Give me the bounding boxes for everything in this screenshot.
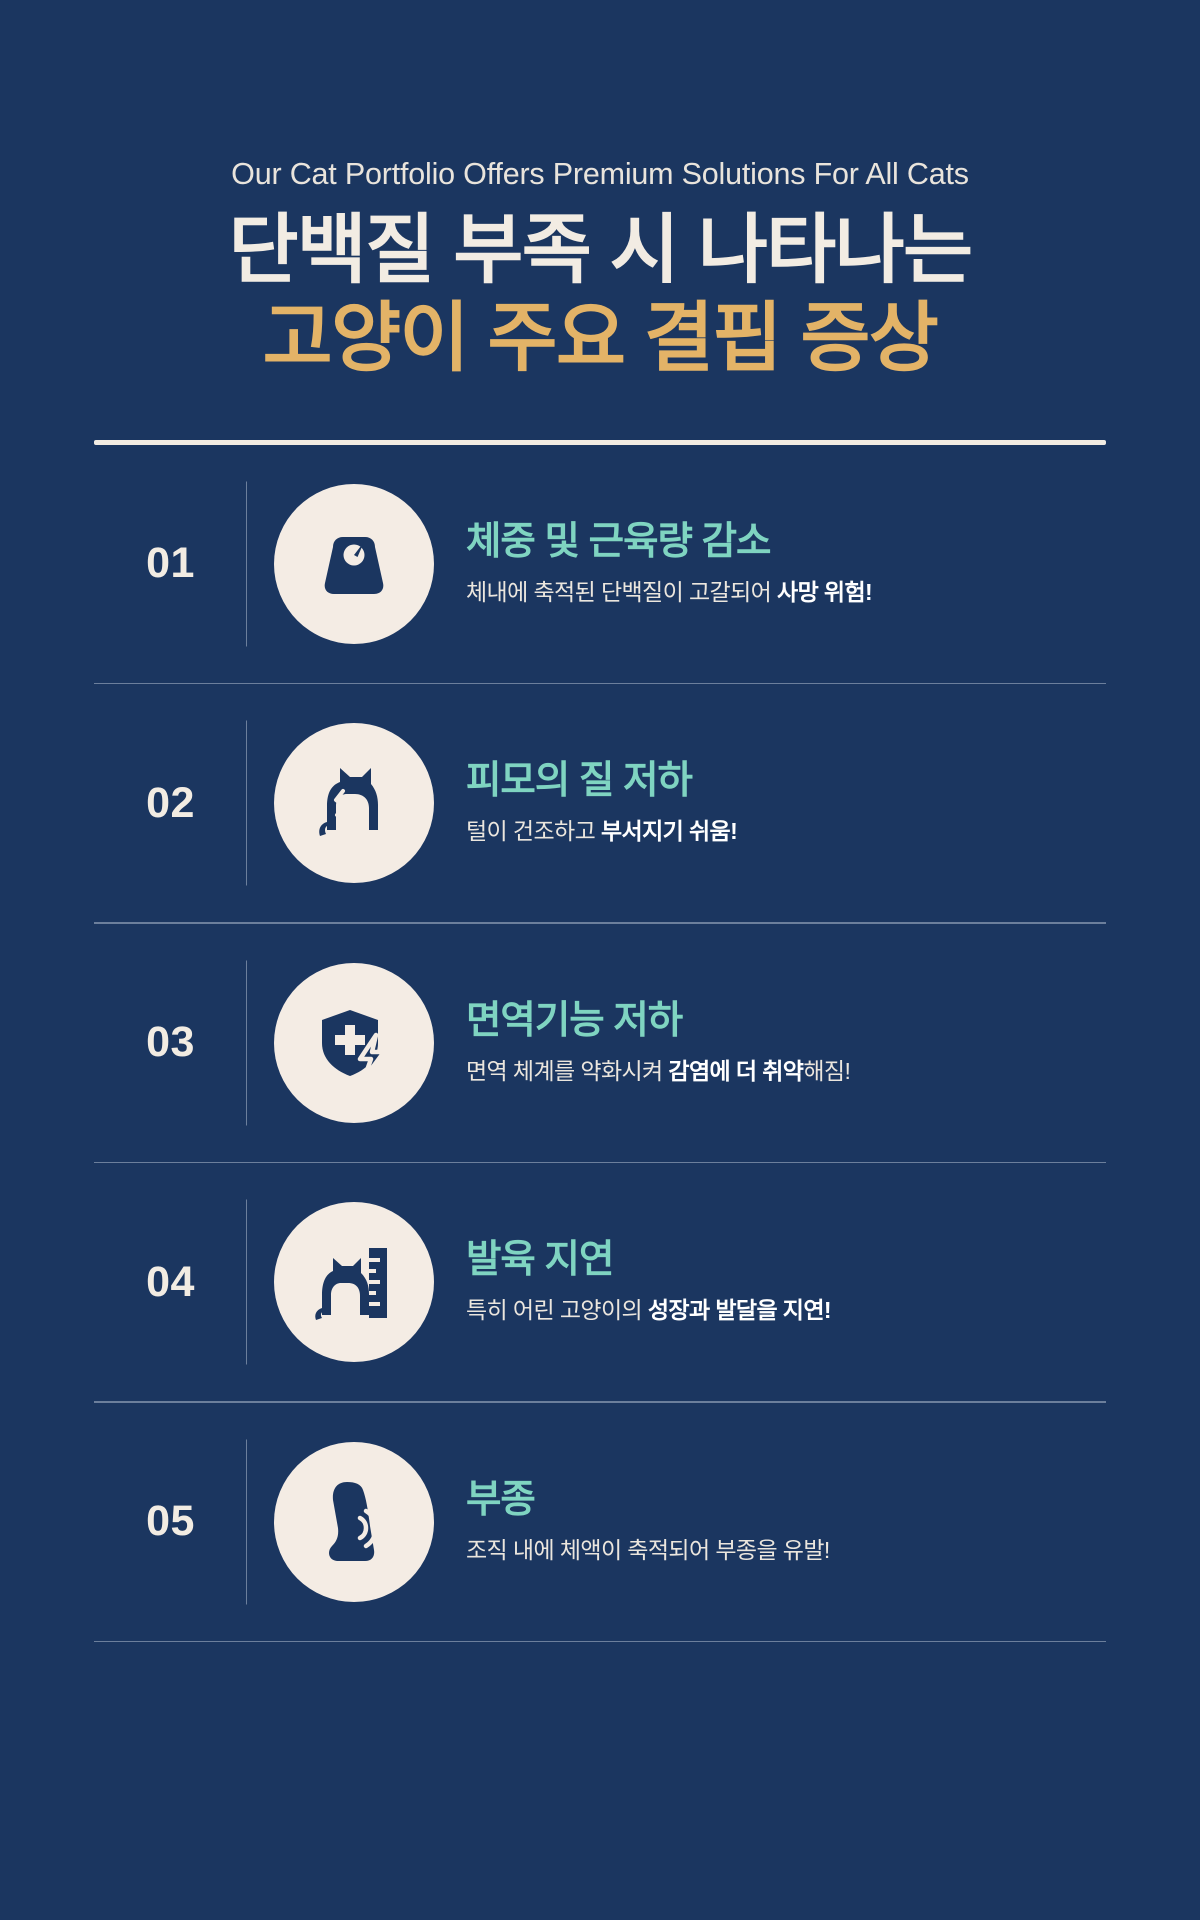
desc-plain: 체내에 축적된 단백질이 고갈되어: [466, 579, 777, 605]
vertical-divider: [246, 1200, 248, 1365]
desc-bold: 감염에 더 취약: [668, 1058, 803, 1084]
symptom-number-cell-3: 03: [94, 1018, 247, 1067]
weight-scale-icon: [311, 521, 397, 607]
icon-badge: [274, 484, 434, 644]
symptom-text-cell-2: 피모의 질 저하 털이 건조하고 부서지기 쉬움!: [460, 759, 1106, 847]
icon-badge: [274, 723, 434, 883]
header-title-block: 단백질 부족 시 나타나는 고양이 주요 결핍 증상: [0, 210, 1200, 380]
symptom-row-2[interactable]: 02 피모의 질 저하 털이 건조하고 부서지기 쉬움!: [94, 684, 1106, 922]
symptom-number-1: 01: [146, 539, 195, 588]
cat-fur-icon: [314, 760, 394, 846]
symptom-icon-cell-2: [247, 723, 460, 883]
symptom-icon-cell-5: [247, 1442, 460, 1602]
symptom-desc-5: 조직 내에 체액이 축적되어 부종을 유발!: [466, 1536, 1106, 1566]
vertical-divider: [246, 1439, 248, 1604]
symptom-text-cell-3: 면역기능 저하 면역 체계를 약화시켜 감염에 더 취약해짐!: [460, 999, 1106, 1087]
symptom-number-cell-5: 05: [94, 1497, 247, 1546]
desc-plain: 특히 어린 고양이의: [466, 1297, 648, 1323]
symptom-number-5: 05: [146, 1497, 195, 1546]
list-bottom-rule: [94, 1641, 1106, 1643]
symptom-text-cell-4: 발육 지연 특히 어린 고양이의 성장과 발달을 지연!: [460, 1238, 1106, 1326]
desc-bold: 부서지기 쉬움!: [601, 818, 737, 844]
symptom-icon-cell-4: [247, 1202, 460, 1362]
symptom-text-cell-5: 부종 조직 내에 체액이 축적되어 부종을 유발!: [460, 1478, 1106, 1566]
symptom-list: 01 체중 및 근육량 감소 체내에 축적된 단백질이 고갈되어 사망 위험!: [94, 380, 1106, 1643]
symptom-text-cell-1: 체중 및 근육량 감소 체내에 축적된 단백질이 고갈되어 사망 위험!: [460, 520, 1106, 608]
symptom-desc-4: 특히 어린 고양이의 성장과 발달을 지연!: [466, 1296, 1106, 1326]
symptom-icon-cell-1: [247, 484, 460, 644]
symptom-desc-2: 털이 건조하고 부서지기 쉬움!: [466, 817, 1106, 847]
symptom-number-2: 02: [146, 779, 195, 828]
symptom-number-4: 04: [146, 1258, 195, 1307]
icon-badge: [274, 1202, 434, 1362]
icon-badge: [274, 963, 434, 1123]
symptom-icon-cell-3: [247, 963, 460, 1123]
symptom-title-3: 면역기능 저하: [466, 999, 1106, 1043]
desc-plain: 털이 건조하고: [466, 818, 601, 844]
symptom-row-3[interactable]: 03 면역기능 저하 면역 체계를 약화시켜 감염에 더 취약해짐!: [94, 924, 1106, 1162]
icon-badge: [274, 1442, 434, 1602]
symptom-row-1[interactable]: 01 체중 및 근육량 감소 체내에 축적된 단백질이 고갈되어 사망 위험!: [94, 445, 1106, 683]
vertical-divider: [246, 721, 248, 886]
desc-plain: 조직 내에 체액이 축적되어 부종을 유발!: [466, 1537, 830, 1563]
header-eyebrow: Our Cat Portfolio Offers Premium Solutio…: [0, 158, 1200, 192]
shield-immunity-icon: [310, 999, 398, 1087]
cat-growth-ruler-icon: [311, 1238, 397, 1326]
desc-bold: 사망 위험!: [777, 579, 872, 605]
symptom-title-4: 발육 지연: [466, 1238, 1106, 1282]
symptom-row-5[interactable]: 05 부종 조직 내에 체액이 축적되어 부종을 유발!: [94, 1403, 1106, 1641]
vertical-divider: [246, 481, 248, 646]
symptom-title-5: 부종: [466, 1478, 1106, 1522]
symptom-number-cell-4: 04: [94, 1258, 247, 1307]
desc-bold: 성장과 발달을 지연!: [648, 1297, 831, 1323]
swollen-leg-icon: [316, 1476, 392, 1568]
symptom-number-cell-2: 02: [94, 779, 247, 828]
infographic-page: Our Cat Portfolio Offers Premium Solutio…: [0, 0, 1200, 1920]
symptom-row-4[interactable]: 04 발육 지연: [94, 1163, 1106, 1401]
symptom-number-3: 03: [146, 1018, 195, 1067]
symptom-title-2: 피모의 질 저하: [466, 759, 1106, 803]
desc-plain: 면역 체계를 약화시켜: [466, 1058, 668, 1084]
symptom-number-cell-1: 01: [94, 539, 247, 588]
vertical-divider: [246, 960, 248, 1125]
page-title-line-2: 고양이 주요 결핍 증상: [0, 298, 1200, 380]
symptom-title-1: 체중 및 근육량 감소: [466, 520, 1106, 564]
symptom-desc-1: 체내에 축적된 단백질이 고갈되어 사망 위험!: [466, 578, 1106, 608]
symptom-desc-3: 면역 체계를 약화시켜 감염에 더 취약해짐!: [466, 1057, 1106, 1087]
header: Our Cat Portfolio Offers Premium Solutio…: [0, 0, 1200, 380]
desc-tail: 해짐!: [803, 1058, 850, 1084]
page-title-line-1: 단백질 부족 시 나타나는: [0, 210, 1200, 292]
